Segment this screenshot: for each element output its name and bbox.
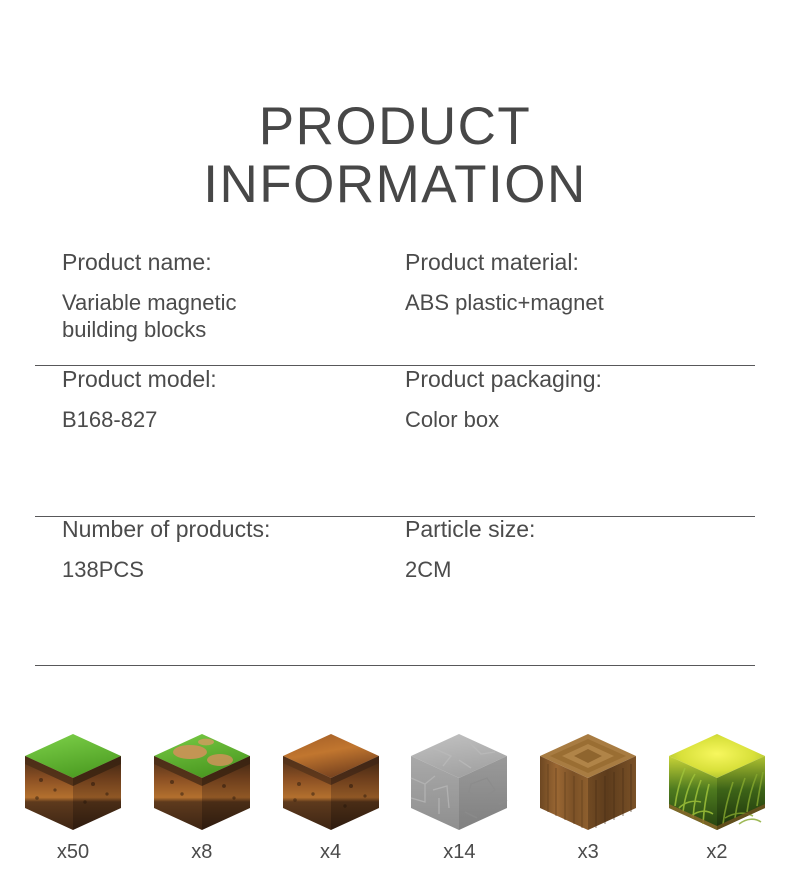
part-quantity: x2: [706, 840, 727, 864]
spec-value: 138PCS: [62, 556, 277, 583]
wood-log-block-icon: [532, 728, 644, 836]
part-quantity: x8: [191, 840, 212, 864]
part-grass-path-block: x8: [143, 728, 261, 881]
part-stone-block: x14: [400, 728, 518, 881]
product-information-page: PRODUCT INFORMATION Product name: Variab…: [0, 0, 790, 881]
spec-cell-product-name: Product name: Variable magnetic building…: [35, 248, 378, 365]
page-title-line-2: INFORMATION: [0, 156, 790, 214]
spec-label: Number of products:: [62, 515, 378, 543]
part-dirt-block: x4: [272, 728, 390, 881]
spec-cell-product-model: Product model: B168-827: [35, 365, 378, 515]
spec-value: 2CM: [405, 556, 735, 583]
spec-label: Product material:: [405, 248, 755, 276]
spec-value: Variable magnetic building blocks: [62, 289, 277, 343]
tall-grass-block-icon: [661, 728, 773, 836]
stone-block-icon: [403, 728, 515, 836]
dirt-block-icon: [275, 728, 387, 836]
spec-cell-product-packaging: Product packaging: Color box: [405, 365, 755, 433]
part-wood-log-block: x3: [529, 728, 647, 881]
spec-divider: [35, 665, 755, 666]
page-title-line-1: PRODUCT: [0, 98, 790, 156]
spec-value: B168-827: [62, 406, 277, 433]
part-quantity: x3: [578, 840, 599, 864]
parts-list: x50: [0, 728, 790, 881]
grass-path-block-icon: [146, 728, 258, 836]
part-quantity: x50: [57, 840, 89, 864]
spec-label: Particle size:: [405, 515, 755, 543]
specification-table: Product name: Variable magnetic building…: [35, 248, 755, 665]
spec-cell-particle-size: Particle size: 2CM: [405, 515, 755, 583]
spec-row: Number of products: 138PCS Particle size…: [35, 515, 755, 665]
spec-row: Product model: B168-827 Product packagin…: [35, 365, 755, 515]
page-title: PRODUCT INFORMATION: [0, 98, 790, 214]
part-grass-block: x50: [14, 728, 132, 881]
part-tall-grass-block: x2: [658, 728, 776, 881]
grass-block-icon: [17, 728, 129, 836]
spec-divider: [35, 516, 755, 517]
part-quantity: x4: [320, 840, 341, 864]
spec-value: ABS plastic+magnet: [405, 289, 735, 316]
spec-label: Product packaging:: [405, 365, 755, 393]
spec-row: Product name: Variable magnetic building…: [35, 248, 755, 365]
spec-value: Color box: [405, 406, 735, 433]
spec-cell-number-of-products: Number of products: 138PCS: [35, 515, 378, 665]
spec-divider: [35, 365, 755, 366]
part-quantity: x14: [443, 840, 475, 864]
spec-label: Product model:: [62, 365, 378, 393]
spec-label: Product name:: [62, 248, 378, 276]
spec-cell-product-material: Product material: ABS plastic+magnet: [405, 248, 755, 316]
